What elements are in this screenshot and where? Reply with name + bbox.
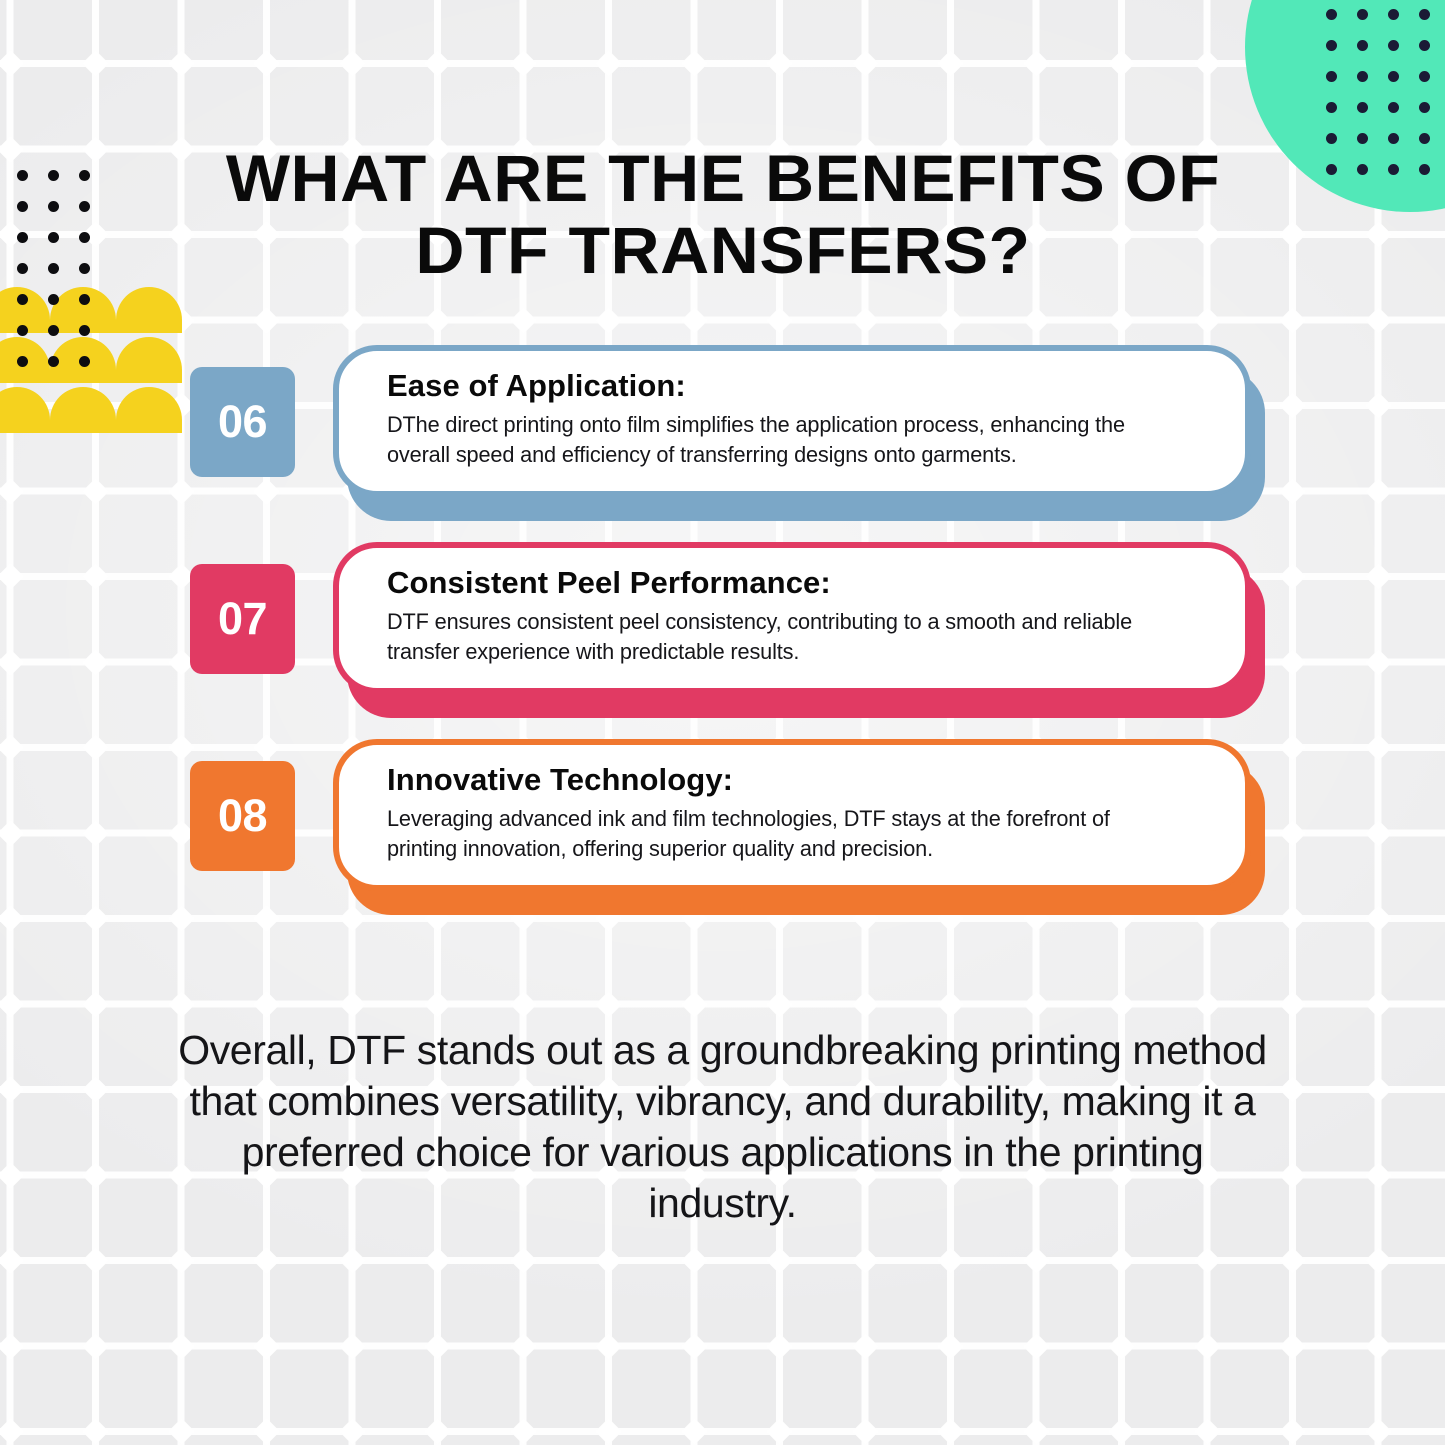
- benefit-card: Ease of Application: DThe direct printin…: [333, 345, 1265, 521]
- benefit-row: 07 Consistent Peel Performance: DTF ensu…: [190, 542, 1265, 718]
- benefit-number-badge: 06: [190, 367, 295, 477]
- benefit-body: Leveraging advanced ink and film technol…: [387, 804, 1182, 864]
- benefit-body: DThe direct printing onto film simplifie…: [387, 410, 1182, 470]
- benefit-card-surface: Ease of Application: DThe direct printin…: [333, 345, 1251, 497]
- page-title: WHAT ARE THE BENEFITS OF DTF TRANSFERS?: [151, 142, 1294, 286]
- benefit-card: Consistent Peel Performance: DTF ensures…: [333, 542, 1265, 718]
- infographic-poster: WHAT ARE THE BENEFITS OF DTF TRANSFERS? …: [0, 0, 1445, 1445]
- benefit-title: Innovative Technology:: [387, 762, 1211, 798]
- benefit-title: Consistent Peel Performance:: [387, 565, 1211, 601]
- benefit-row: 06 Ease of Application: DThe direct prin…: [190, 345, 1265, 521]
- benefit-number-badge: 07: [190, 564, 295, 674]
- benefit-card: Innovative Technology: Leveraging advanc…: [333, 739, 1265, 915]
- benefit-card-surface: Consistent Peel Performance: DTF ensures…: [333, 542, 1251, 694]
- benefit-number-badge: 08: [190, 761, 295, 871]
- benefit-row: 08 Innovative Technology: Leveraging adv…: [190, 739, 1265, 915]
- benefit-title: Ease of Application:: [387, 368, 1211, 404]
- benefit-body: DTF ensures consistent peel consistency,…: [387, 607, 1182, 667]
- summary-paragraph: Overall, DTF stands out as a groundbreak…: [175, 1025, 1270, 1229]
- benefit-card-surface: Innovative Technology: Leveraging advanc…: [333, 739, 1251, 891]
